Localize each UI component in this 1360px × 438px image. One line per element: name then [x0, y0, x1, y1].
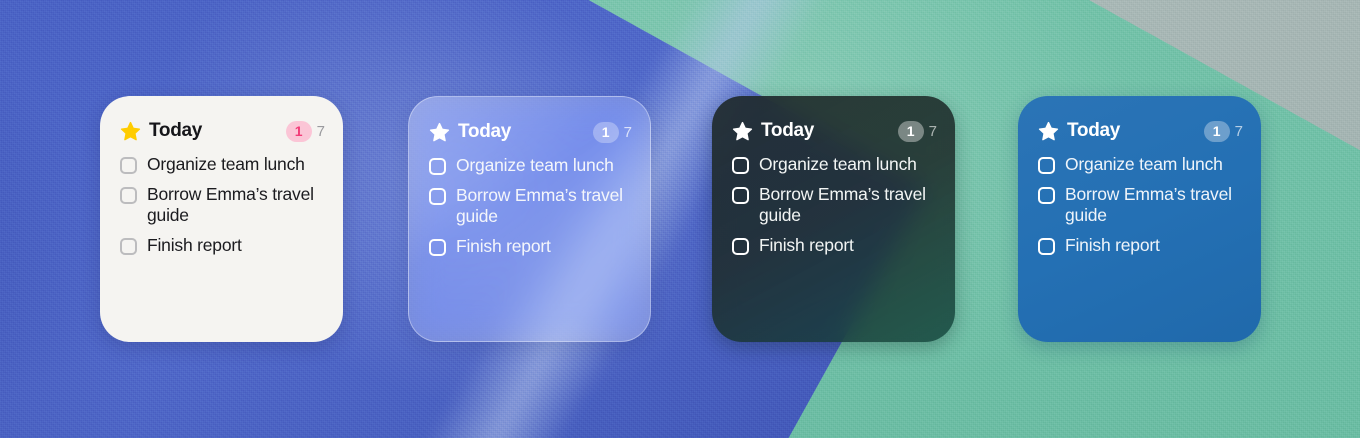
task-label: Finish report	[1065, 235, 1160, 257]
list-item[interactable]: Finish report	[1038, 235, 1243, 257]
task-list: Organize team lunch Borrow Emma’s travel…	[1038, 154, 1243, 256]
widget-card-dark[interactable]: Today 1 7 Organize team lunch Borrow Emm…	[712, 96, 955, 342]
widget-header: Today 1 7	[732, 118, 937, 144]
header-counts: 1 7	[286, 121, 325, 142]
widget-header: Today 1 7	[120, 118, 325, 144]
task-label: Finish report	[147, 235, 242, 257]
checkbox-icon[interactable]	[120, 157, 137, 174]
total-count: 7	[929, 123, 937, 140]
widget-title: Today	[458, 121, 511, 143]
checkbox-icon[interactable]	[429, 239, 446, 256]
list-item[interactable]: Finish report	[732, 235, 937, 257]
task-label: Organize team lunch	[456, 155, 614, 177]
list-item[interactable]: Organize team lunch	[120, 154, 325, 176]
total-count: 7	[624, 124, 632, 141]
checkbox-icon[interactable]	[429, 158, 446, 175]
widget-card-glass[interactable]: Today 1 7 Organize team lunch Borrow Emm…	[408, 96, 651, 342]
widget-header: Today 1 7	[429, 119, 632, 145]
star-icon	[429, 122, 450, 143]
header-counts: 1 7	[593, 122, 632, 143]
list-item[interactable]: Finish report	[429, 236, 632, 258]
task-list: Organize team lunch Borrow Emma’s travel…	[429, 155, 632, 257]
widget-card-light[interactable]: Today 1 7 Organize team lunch Borrow Emm…	[100, 96, 343, 342]
list-item[interactable]: Borrow Emma’s travel guide	[732, 184, 937, 227]
list-item[interactable]: Finish report	[120, 235, 325, 257]
list-item[interactable]: Organize team lunch	[1038, 154, 1243, 176]
task-list: Organize team lunch Borrow Emma’s travel…	[732, 154, 937, 256]
list-item[interactable]: Borrow Emma’s travel guide	[429, 185, 632, 228]
total-count: 7	[1235, 123, 1243, 140]
checkbox-icon[interactable]	[429, 188, 446, 205]
checkbox-icon[interactable]	[120, 187, 137, 204]
task-label: Finish report	[456, 236, 551, 258]
list-item[interactable]: Borrow Emma’s travel guide	[1038, 184, 1243, 227]
list-item[interactable]: Organize team lunch	[732, 154, 937, 176]
widget-row: Today 1 7 Organize team lunch Borrow Emm…	[0, 0, 1360, 438]
task-label: Finish report	[759, 235, 854, 257]
checkbox-icon[interactable]	[732, 157, 749, 174]
widget-title: Today	[1067, 120, 1120, 142]
task-label: Borrow Emma’s travel guide	[1065, 184, 1243, 227]
widget-title: Today	[761, 120, 814, 142]
checkbox-icon[interactable]	[1038, 187, 1055, 204]
widget-header: Today 1 7	[1038, 118, 1243, 144]
task-label: Borrow Emma’s travel guide	[759, 184, 937, 227]
status-badge: 1	[286, 121, 312, 142]
task-list: Organize team lunch Borrow Emma’s travel…	[120, 154, 325, 256]
widget-title: Today	[149, 120, 202, 142]
task-label: Organize team lunch	[147, 154, 305, 176]
checkbox-icon[interactable]	[1038, 157, 1055, 174]
star-icon	[732, 121, 753, 142]
header-counts: 1 7	[898, 121, 937, 142]
checkbox-icon[interactable]	[1038, 238, 1055, 255]
task-label: Organize team lunch	[759, 154, 917, 176]
widget-card-blue[interactable]: Today 1 7 Organize team lunch Borrow Emm…	[1018, 96, 1261, 342]
status-badge: 1	[898, 121, 924, 142]
status-badge: 1	[1204, 121, 1230, 142]
total-count: 7	[317, 123, 325, 140]
task-label: Borrow Emma’s travel guide	[147, 184, 325, 227]
star-icon	[120, 121, 141, 142]
header-counts: 1 7	[1204, 121, 1243, 142]
star-icon	[1038, 121, 1059, 142]
list-item[interactable]: Organize team lunch	[429, 155, 632, 177]
task-label: Organize team lunch	[1065, 154, 1223, 176]
checkbox-icon[interactable]	[732, 187, 749, 204]
status-badge: 1	[593, 122, 619, 143]
list-item[interactable]: Borrow Emma’s travel guide	[120, 184, 325, 227]
checkbox-icon[interactable]	[732, 238, 749, 255]
task-label: Borrow Emma’s travel guide	[456, 185, 632, 228]
checkbox-icon[interactable]	[120, 238, 137, 255]
